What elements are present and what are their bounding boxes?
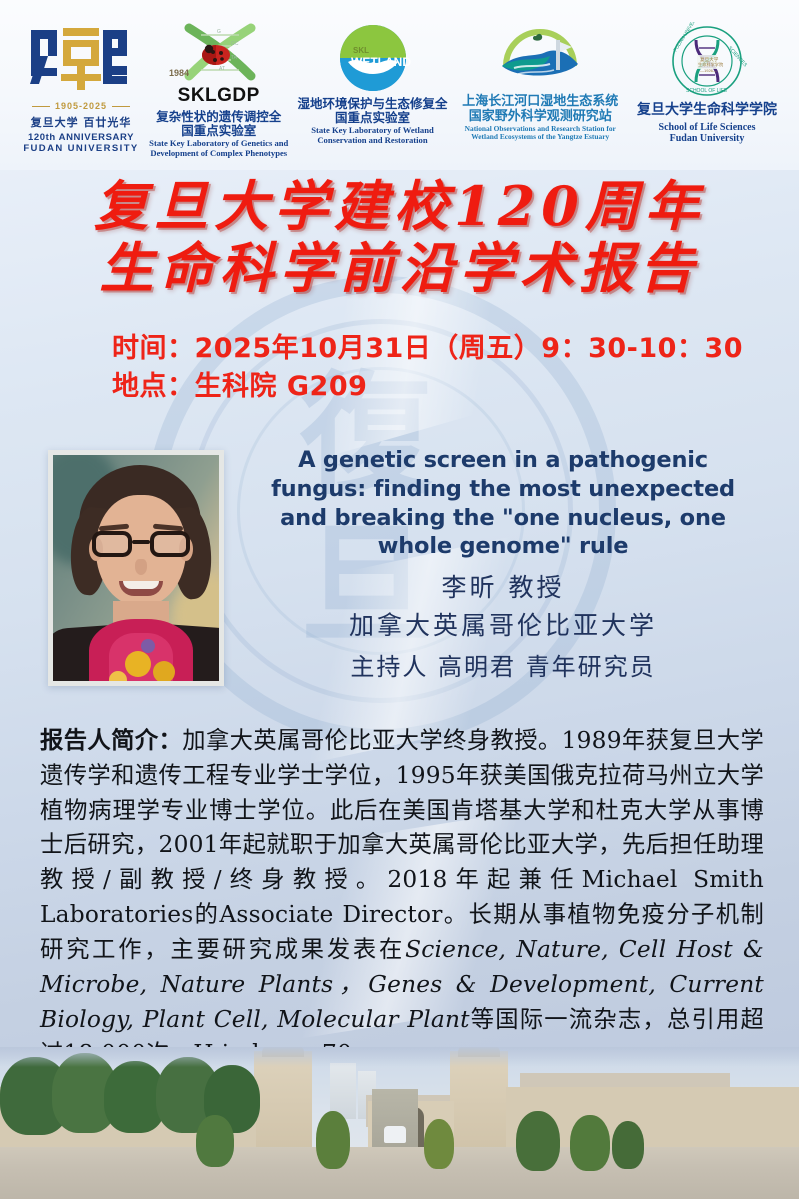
sklgdp-en-line2: Development of Complex Phenotypes (150, 149, 287, 159)
svg-text:SCHOOL OF LIFE: SCHOOL OF LIFE (686, 88, 728, 94)
yangtze-station-cn-line2: 国家野外科学观测研究站 (469, 110, 612, 125)
svg-text:1984: 1984 (169, 68, 189, 78)
svg-text:—1926—: —1926— (700, 68, 717, 73)
life-sciences-en-line1: School of Life Sciences (659, 122, 756, 133)
sklgdp-cn-line2: 国重点实验室 (181, 124, 256, 138)
campus-photo-footer (0, 1047, 799, 1199)
portrait-nose (135, 559, 147, 575)
campus-white-vehicle (384, 1126, 406, 1143)
svg-text:AT: AT (219, 66, 225, 72)
svg-text:SKL: SKL (353, 46, 369, 55)
yangtze-station-en-line2: Wetland Ecosystems of the Yangtze Estuar… (471, 133, 609, 141)
bio-text-part1: 加拿大英属哥伦比亚大学终身教授。1989年获复旦大学遗传学和遗传工程专业学士学位… (40, 727, 764, 963)
yangtze-station-cn-line1: 上海长江河口湿地生态系统 (462, 95, 618, 110)
campus-tree-8 (424, 1119, 454, 1169)
talk-host: 主持人 高明君 青年研究员 (238, 648, 768, 686)
portrait-scarf-flower-4 (141, 639, 155, 653)
logo-fudan-120-anniversary: 1905-2025 复旦大学 百廿光华 120th ANNIVERSARY FU… (22, 22, 140, 154)
school-of-life-sciences-seal-icon: 复旦大学 生命科学学院 —1926— FUDAN UNIVERSITY SCIE… (666, 22, 748, 100)
speaker-affiliation: 加拿大英属哥伦比亚大学 (238, 607, 768, 645)
talk-title-line-1: A genetic screen in a pathogenic (238, 446, 768, 475)
fudan-120-en-line2: FUDAN UNIVERSITY (23, 143, 138, 154)
logo-school-of-life-sciences: 复旦大学 生命科学学院 —1926— FUDAN UNIVERSITY SCIE… (633, 22, 781, 144)
portrait-scarf-flower-1 (125, 651, 151, 677)
talk-title-line-4: whole genome" rule (238, 532, 768, 561)
campus-tree-7 (316, 1111, 350, 1169)
logo-skl-wetland: SKL WETLAND 湿地环境保护与生态修复全 国重点实验室 State Ke… (298, 22, 448, 145)
svg-text:WETLAND: WETLAND (351, 55, 411, 69)
logo-sklgdp: GGC TAAT 1984 SKLGDP 复杂性状的遗传调控全 国重点实验室 S… (144, 22, 294, 158)
svg-text:G: G (217, 29, 221, 35)
title-line-1: 复旦大学建校120周年 (0, 176, 799, 238)
talk-title-line-3: and breaking the "one nucleus, one (238, 504, 768, 533)
portrait-lens-left (92, 531, 132, 557)
fudan-120-years: 1905-2025 (32, 101, 130, 111)
fudan-120-en-line1: 120th ANNIVERSARY (28, 132, 134, 143)
sklgdp-cn-line1: 复杂性状的遗传调控全 (156, 110, 281, 124)
portrait-scarf-flower-2 (153, 661, 175, 683)
skl-wetland-en-line2: Conservation and Restoration (317, 136, 427, 146)
life-sciences-en-line2: Fudan University (670, 133, 745, 144)
poster-main-title: 复旦大学建校120周年 生命科学前沿学术报告 (0, 176, 799, 299)
sklgdp-dna-ladybug-icon: GGC TAAT 1984 (167, 22, 271, 84)
campus-tree-6 (196, 1115, 234, 1167)
skl-wetland-cn-line2: 国重点实验室 (335, 111, 410, 125)
campus-plaza (0, 1147, 799, 1199)
campus-tree-9 (516, 1111, 560, 1171)
event-time: 时间：2025年10月31日（周五）9：30-10：30 (112, 330, 772, 368)
sklgdp-acronym: SKLGDP (178, 85, 260, 107)
svg-text:TA: TA (231, 55, 238, 61)
event-meta: 时间：2025年10月31日（周五）9：30-10：30 地点：生科院 G209 (112, 330, 772, 407)
speaker-biography: 报告人简介：加拿大英属哥伦比亚大学终身教授。1989年获复旦大学遗传学和遗传工程… (40, 724, 764, 1072)
svg-text:GC: GC (231, 41, 239, 47)
talk-title-line-2: fungus: finding the most unexpected (238, 475, 768, 504)
speaker-name: 李昕 教授 (238, 569, 768, 607)
portrait-scarf-flower-3 (109, 671, 127, 686)
logo-yangtze-estuary-station: 上海长江河口湿地生态系统 国家野外科学观测研究站 National Observ… (451, 22, 629, 142)
title-line-2: 生命科学前沿学术报告 (0, 238, 799, 300)
talk-block: A genetic screen in a pathogenic fungus:… (238, 446, 768, 687)
bio-label: 报告人简介： (40, 727, 182, 754)
portrait-glasses (91, 531, 191, 557)
talk-title: A genetic screen in a pathogenic fungus:… (238, 446, 768, 561)
skl-wetland-icon: SKL WETLAND (334, 22, 412, 94)
fudan-120-anniversary-icon (25, 22, 137, 98)
campus-top-fade (0, 1047, 799, 1067)
event-location: 地点：生科院 G209 (112, 368, 772, 406)
fudan-120-calligraphy: 复旦大学 百廿光华 (31, 114, 132, 130)
svg-text:SCIENCES: SCIENCES (727, 45, 748, 69)
header-logo-band: 1905-2025 复旦大学 百廿光华 120th ANNIVERSARY FU… (0, 0, 799, 170)
campus-tree-10 (570, 1115, 610, 1171)
skl-wetland-cn-line1: 湿地环境保护与生态修复全 (298, 97, 448, 111)
seminar-poster: 復 旦 (0, 0, 799, 1199)
portrait-teeth (123, 581, 159, 589)
portrait-glasses-bridge (132, 540, 150, 544)
yangtze-estuary-station-icon (494, 22, 586, 92)
portrait-lens-right (150, 531, 190, 557)
life-sciences-cn-line1: 复旦大学生命科学学院 (637, 103, 777, 119)
speaker-portrait (48, 450, 224, 686)
campus-tree-11 (612, 1121, 644, 1169)
svg-text:生命科学学院: 生命科学学院 (698, 61, 724, 68)
